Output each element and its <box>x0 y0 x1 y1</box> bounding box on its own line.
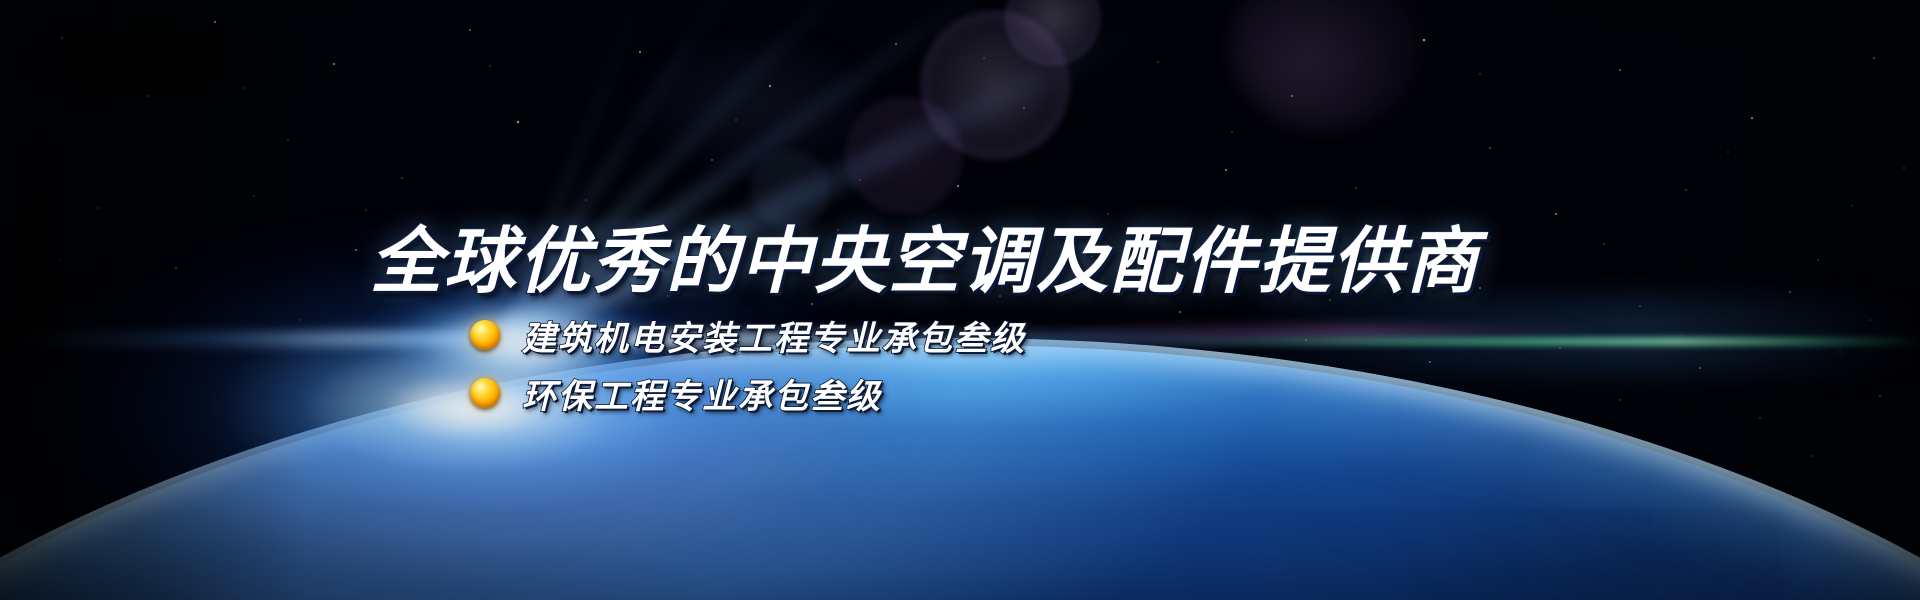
hero-banner: 全球优秀的中央空调及配件提供商 建筑机电安装工程专业承包叁级 环保工程专业承包叁… <box>0 0 1920 600</box>
bullet-item-2: 环保工程专业承包叁级 <box>470 366 1026 420</box>
bullet-item-2-label: 环保工程专业承包叁级 <box>522 369 882 418</box>
bullet-item-1: 建筑机电安装工程专业承包叁级 <box>470 308 1026 362</box>
banner-headline: 全球优秀的中央空调及配件提供商 <box>370 202 1480 307</box>
banner-bullet-list: 建筑机电安装工程专业承包叁级 环保工程专业承包叁级 <box>470 308 1026 424</box>
orange-bullet-dot-icon <box>470 320 500 350</box>
bullet-item-1-label: 建筑机电安装工程专业承包叁级 <box>522 311 1026 360</box>
orange-bullet-dot-icon <box>470 378 500 408</box>
green-edge-streak <box>1140 337 1920 346</box>
